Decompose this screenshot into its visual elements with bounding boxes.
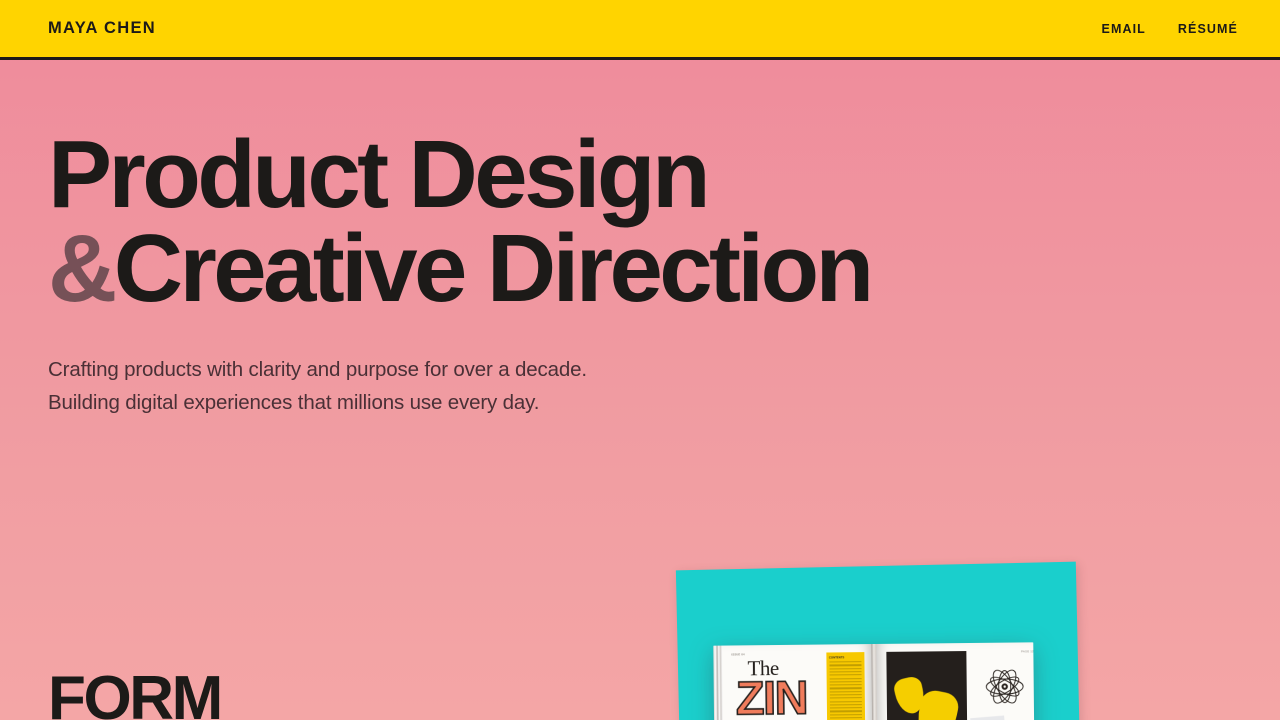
magazine-left-page: ISSUE 04 The ZIN CONTENTS (722, 644, 872, 720)
hero-section: Product Design &Creative Direction Craft… (0, 60, 1280, 419)
magazine-pages: ISSUE 04 The ZIN CONTENTS (713, 642, 1034, 720)
sketch-thumbnail (970, 715, 1006, 720)
left-page-yellow-sidebar: CONTENTS (826, 652, 865, 720)
hero-subtitle: Crafting products with clarity and purpo… (48, 354, 1232, 419)
black-art-panel (886, 651, 967, 720)
section-heading-form: FORM (48, 668, 221, 720)
showcase-image[interactable]: ISSUE 04 The ZIN CONTENTS (660, 548, 1280, 720)
headline-line-2-text: Creative Direction (114, 215, 871, 322)
atom-diagram-icon (984, 666, 1024, 706)
primary-nav: EMAIL RÉSUMÉ (1102, 22, 1238, 36)
ampersand-glyph: & (48, 215, 114, 322)
magazine-right-page: PAGE 12 (876, 642, 1035, 720)
page-number: PAGE 12 (1021, 650, 1034, 653)
headline-line-1: Product Design (48, 128, 1232, 222)
brand-wordmark[interactable]: MAYA CHEN (48, 19, 156, 38)
site-header: MAYA CHEN EMAIL RÉSUMÉ (0, 0, 1280, 60)
page-title: Product Design &Creative Direction (48, 128, 1232, 316)
right-page-column: PAGE 12 (972, 650, 1035, 720)
subtitle-line-1: Crafting products with clarity and purpo… (48, 354, 1232, 386)
nav-link-resume[interactable]: RÉSUMÉ (1178, 22, 1238, 36)
sidebar-heading: CONTENTS (829, 655, 861, 660)
headline-line-2: &Creative Direction (48, 222, 1232, 316)
sidebar-text-lines (829, 661, 862, 718)
nav-link-email[interactable]: EMAIL (1102, 22, 1146, 36)
subtitle-line-2: Building digital experiences that millio… (48, 387, 1232, 419)
magazine-spread: ISSUE 04 The ZIN CONTENTS (713, 642, 1034, 720)
